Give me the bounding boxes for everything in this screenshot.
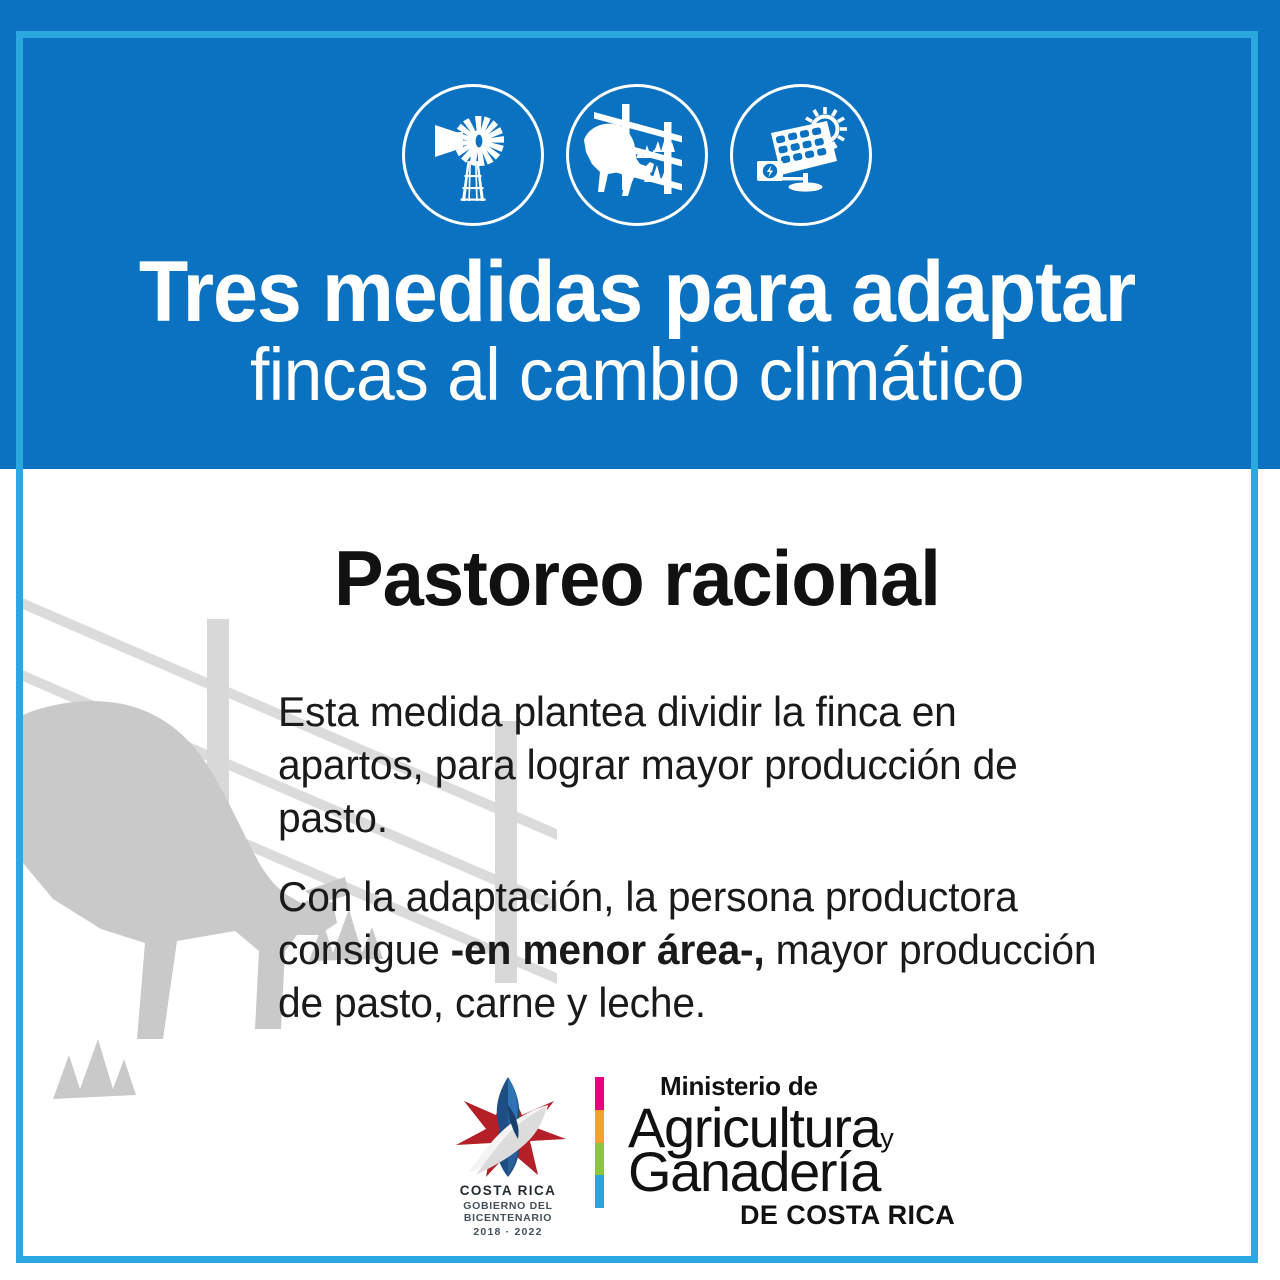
color-bar-blue <box>595 1175 604 1208</box>
ministry-logo-lockup: COSTA RICA GOBIERNO DEL BICENTENARIO 201… <box>433 1071 955 1238</box>
emblem-years-label: 2018 · 2022 <box>433 1226 583 1238</box>
ministry-conjunction: y <box>880 1123 894 1153</box>
color-bar-green <box>595 1143 604 1176</box>
paragraph-one: Esta medida plantea dividir la finca en … <box>278 686 1103 845</box>
emblem-government-label: GOBIERNO DEL BICENTENARIO <box>433 1200 583 1224</box>
header-panel: Tres medidas para adaptar fincas al camb… <box>23 38 1251 469</box>
solar-panel-icon <box>730 84 872 226</box>
poster-canvas: Tres medidas para adaptar fincas al camb… <box>0 0 1280 1280</box>
color-bar-pink <box>595 1077 604 1110</box>
paragraph-two: Con la adaptación, la persona productora… <box>278 871 1103 1030</box>
title-line-1: Tres medidas para adaptar <box>60 250 1214 335</box>
page-title: Pastoreo racional <box>54 539 1221 617</box>
header-title-block: Tres medidas para adaptar fincas al camb… <box>23 250 1251 413</box>
ministry-line-4: DE COSTA RICA <box>740 1202 955 1229</box>
color-bar-orange <box>595 1110 604 1143</box>
emblem-country-label: COSTA RICA <box>433 1183 583 1198</box>
ministry-color-bar <box>595 1077 604 1208</box>
ministry-line-3: Ganadería <box>628 1144 955 1200</box>
paragraph-two-emphasis: -en menor área-, <box>451 926 765 973</box>
ministry-name-block: Ministerio de Agriculturay Ganadería DE … <box>628 1073 955 1229</box>
bicentennial-star-icon <box>442 1071 574 1181</box>
body-panel: Pastoreo racional Esta medida plantea di… <box>23 469 1251 1263</box>
cow-fence-icon <box>566 84 708 226</box>
costa-rica-bicentennial-emblem: COSTA RICA GOBIERNO DEL BICENTENARIO 201… <box>433 1071 583 1238</box>
title-line-2: fincas al cambio climático <box>60 337 1214 412</box>
icon-row <box>23 84 1251 226</box>
windmill-icon <box>402 84 544 226</box>
